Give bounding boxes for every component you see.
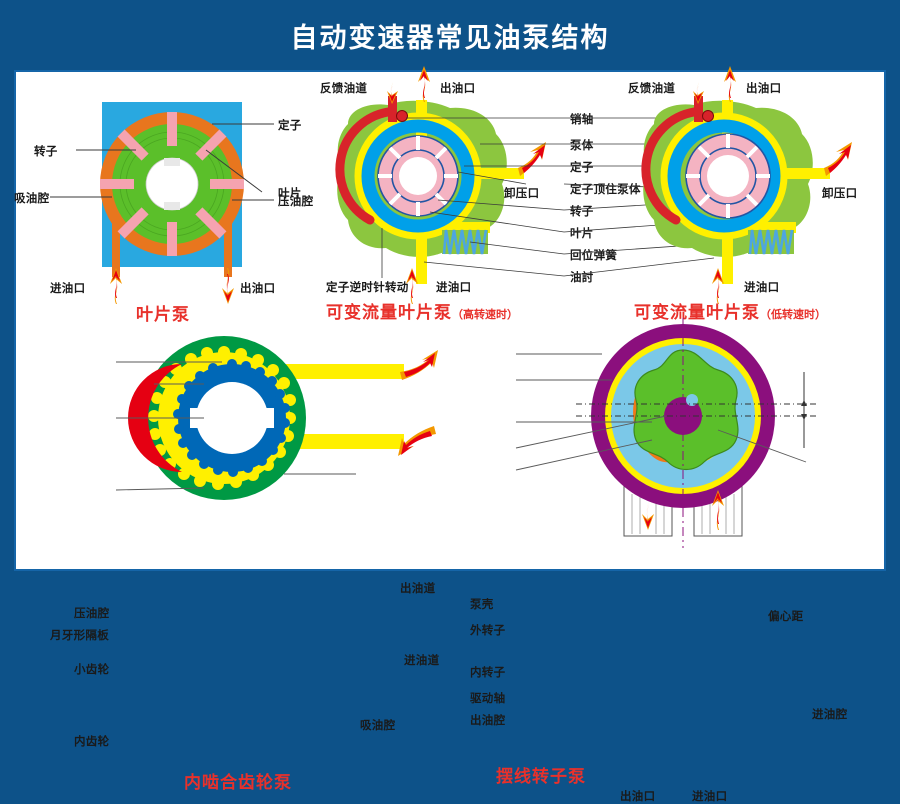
- label-gerotor-drive-shaft: 驱动轴: [470, 690, 505, 706]
- label-vvl-outlet: 出油口: [746, 80, 781, 96]
- vvh-bore: [399, 157, 437, 195]
- poster-header: 自动变速器常见油泵结构: [0, 0, 900, 70]
- panel-vane-pump: 定子 转子 叶片 吸油腔 压油腔 进油口 出油口 叶片泵: [16, 72, 316, 322]
- label-vvh-feedback-passage: 反馈油道: [320, 80, 367, 96]
- label-vane-rotor: 转子: [34, 143, 58, 159]
- caption-internal-gear-pump: 内啮合齿轮泵: [184, 768, 292, 793]
- diagram-canvas: 定子 转子 叶片 吸油腔 压油腔 进油口 出油口 叶片泵: [14, 70, 886, 571]
- gerotor-drawing: [456, 322, 884, 569]
- label-igp-outlet-passage: 出油道: [400, 580, 435, 596]
- label-vvh-outlet: 出油口: [440, 80, 475, 96]
- vvh-pin-shaft: [397, 111, 408, 122]
- label-pin-shaft: 销轴: [570, 111, 594, 127]
- label-igp-pinion-gear: 小齿轮: [74, 661, 109, 677]
- label-gerotor-housing: 泵壳: [470, 596, 494, 612]
- label-vane-pressure-chamber: 压油腔: [278, 193, 313, 209]
- label-igp-suction-chamber: 吸油腔: [360, 717, 395, 733]
- gerotor-eccentricity-measure: [801, 372, 807, 448]
- vvl-pin-shaft: [703, 111, 714, 122]
- label-vvh-relief-port: 卸压口: [504, 185, 539, 201]
- igp-bore: [196, 382, 268, 454]
- caption-vvh-sub: （高转速时）: [452, 308, 518, 321]
- vvl-return-spring: [748, 230, 794, 254]
- label-rotor: 转子: [570, 203, 594, 219]
- vvl-bore: [707, 155, 749, 197]
- label-gerotor-inner-rotor: 内转子: [470, 664, 505, 680]
- igp-keyway-right: [258, 408, 274, 428]
- vane-hub-notch-top: [164, 158, 180, 166]
- page-title: 自动变速器常见油泵结构: [291, 16, 610, 55]
- label-gerotor-outlet-chamber: 出油腔: [470, 712, 505, 728]
- panel-gerotor-pump: 泵壳 外转子 内转子 驱动轴 出油腔 偏心距 进油腔 出油口 进油口 摆线转子泵: [456, 322, 884, 569]
- label-gerotor-outer-rotor: 外转子: [470, 622, 505, 638]
- label-vane-suction-chamber: 吸油腔: [14, 190, 49, 206]
- vvh-return-spring: [442, 230, 488, 254]
- label-gerotor-inlet-port: 进油口: [692, 788, 727, 804]
- vvh-relief-arrow: [518, 142, 546, 176]
- caption-vvl-sub: （低转速时）: [760, 308, 826, 321]
- label-igp-inlet-passage: 进油道: [404, 652, 439, 668]
- label-vane-stator: 定子: [278, 117, 302, 133]
- caption-vvl-text: 可变流量叶片泵: [634, 303, 760, 323]
- label-vvh-stator-ccw: 定子逆时针转动: [326, 279, 409, 295]
- label-vvl-inlet: 进油口: [744, 279, 779, 295]
- internal-gear-drawing: [56, 322, 476, 569]
- label-gerotor-inlet-chamber: 进油腔: [812, 706, 847, 722]
- vvh-outlet-arrow: [418, 66, 430, 102]
- label-vvl-relief-port: 卸压口: [822, 185, 857, 201]
- panel-internal-gear-pump: 压油腔 月牙形隔板 小齿轮 内齿轮 出油道 进油道 吸油腔 内啮合齿轮泵: [56, 322, 476, 569]
- vane-hub-notch-bottom: [164, 202, 180, 210]
- vvl-relief-arrow: [824, 142, 852, 176]
- label-vane-2: 叶片: [570, 225, 594, 241]
- label-vane-inlet: 进油口: [50, 280, 85, 296]
- caption-gerotor-text: 摆线转子泵: [496, 767, 586, 787]
- caption-vvh-text: 可变流量叶片泵: [326, 303, 452, 323]
- label-pump-body: 泵体: [570, 137, 594, 153]
- label-stator: 定子: [570, 159, 594, 175]
- label-gerotor-eccentricity: 偏心距: [768, 608, 803, 624]
- label-vane-outlet: 出油口: [240, 280, 275, 296]
- caption-igp-text: 内啮合齿轮泵: [184, 773, 292, 793]
- panel-variable-vane-low: 反馈油道 出油口 卸压口 进油口 可变流量叶片泵（低转速时）: [608, 72, 898, 322]
- vvl-outlet-arrow: [724, 66, 736, 102]
- caption-variable-vane-high: 可变流量叶片泵（高转速时）: [326, 298, 518, 323]
- igp-outlet-arrow: [400, 350, 438, 380]
- label-oil-seal: 油討: [570, 269, 594, 285]
- label-igp-crescent-plate: 月牙形隔板: [50, 627, 109, 643]
- label-igp-internal-gear: 内齿轮: [74, 733, 109, 749]
- label-vvh-inlet: 进油口: [436, 279, 471, 295]
- poster-root: 自动变速器常见油泵结构: [0, 0, 900, 599]
- label-vvl-feedback-passage: 反馈油道: [628, 80, 675, 96]
- label-igp-pressure-chamber: 压油腔: [74, 605, 109, 621]
- caption-variable-vane-low: 可变流量叶片泵（低转速时）: [634, 298, 826, 323]
- label-gerotor-outlet-port: 出油口: [620, 788, 655, 804]
- caption-gerotor-pump: 摆线转子泵: [496, 762, 586, 787]
- vane-inlet-arrow: [110, 268, 122, 304]
